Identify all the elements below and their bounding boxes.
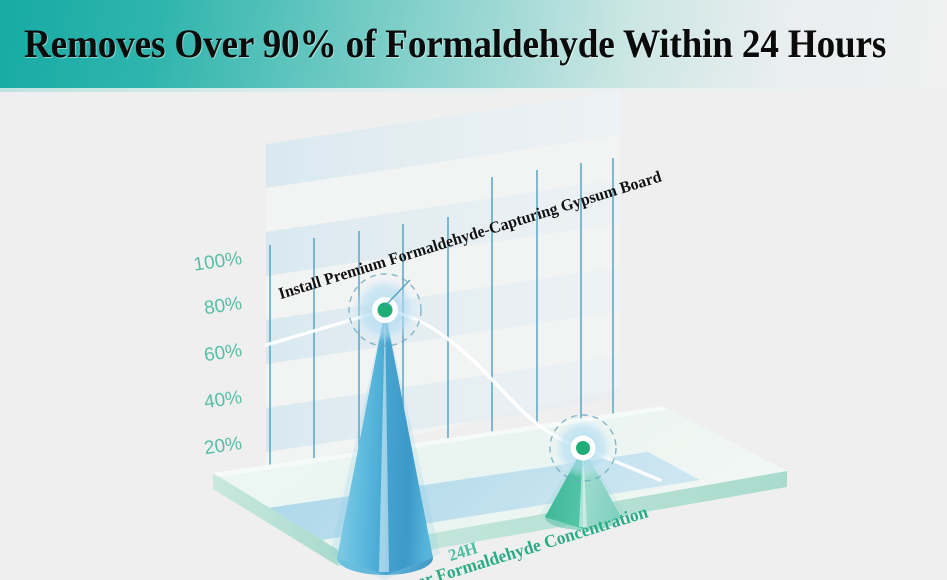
chart-scene: 100% 80% 60% 40% 20% Install Premium For… bbox=[0, 88, 947, 580]
infographic-root: Removes Over 90% of Formaldehyde Within … bbox=[0, 0, 947, 580]
header-banner: Removes Over 90% of Formaldehyde Within … bbox=[0, 0, 947, 88]
chart-svg bbox=[0, 88, 947, 580]
page-title: Removes Over 90% of Formaldehyde Within … bbox=[24, 20, 886, 67]
marker-dot-icon bbox=[378, 303, 393, 318]
marker-dot-icon bbox=[576, 441, 590, 455]
